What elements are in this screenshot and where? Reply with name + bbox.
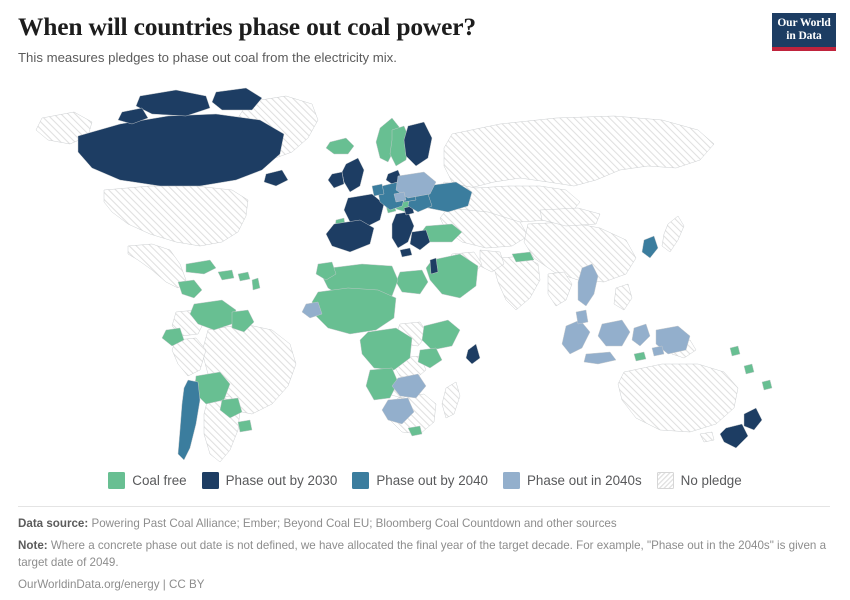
legend-swatch-no-pledge xyxy=(657,472,674,489)
note-label: Note: xyxy=(18,539,48,552)
data-source-label: Data source: xyxy=(18,517,88,530)
legend-label-coal-free: Coal free xyxy=(132,473,186,488)
legend-item-coal-free[interactable]: Coal free xyxy=(108,472,186,489)
legend-swatch-coal-free xyxy=(108,472,125,489)
world-map-svg[interactable] xyxy=(0,82,850,462)
owid-chart: When will countries phase out coal power… xyxy=(0,0,850,600)
legend-item-no-pledge[interactable]: No pledge xyxy=(657,472,742,489)
chart-header: When will countries phase out coal power… xyxy=(18,12,758,66)
legend-item-phaseout-2040s[interactable]: Phase out in 2040s xyxy=(503,472,642,489)
note-line: Note: Where a concrete phase out date is… xyxy=(18,538,830,571)
legend-label-phaseout-2040: Phase out by 2040 xyxy=(376,473,488,488)
map-legend[interactable]: Coal free Phase out by 2030 Phase out by… xyxy=(0,472,850,489)
data-source-line: Data source: Powering Past Coal Alliance… xyxy=(18,516,830,532)
world-map[interactable] xyxy=(0,82,850,462)
owid-logo-line2: in Data xyxy=(786,30,821,43)
legend-swatch-phaseout-2040s xyxy=(503,472,520,489)
page-title: When will countries phase out coal power… xyxy=(18,12,758,41)
legend-swatch-phaseout-2040 xyxy=(352,472,369,489)
data-source-text: Powering Past Coal Alliance; Ember; Beyo… xyxy=(88,517,616,530)
attribution-line[interactable]: OurWorldinData.org/energy | CC BY xyxy=(18,577,830,593)
legend-item-phaseout-2040[interactable]: Phase out by 2040 xyxy=(352,472,488,489)
owid-logo[interactable]: Our World in Data xyxy=(772,13,836,51)
chart-footer: Data source: Powering Past Coal Alliance… xyxy=(18,506,830,594)
legend-item-phaseout-2030[interactable]: Phase out by 2030 xyxy=(202,472,338,489)
note-text: Where a concrete phase out date is not d… xyxy=(18,539,826,568)
legend-label-no-pledge: No pledge xyxy=(681,473,742,488)
legend-label-phaseout-2040s: Phase out in 2040s xyxy=(527,473,642,488)
legend-label-phaseout-2030: Phase out by 2030 xyxy=(226,473,338,488)
owid-logo-line1: Our World xyxy=(777,17,830,30)
page-subtitle: This measures pledges to phase out coal … xyxy=(18,49,758,66)
legend-swatch-phaseout-2030 xyxy=(202,472,219,489)
